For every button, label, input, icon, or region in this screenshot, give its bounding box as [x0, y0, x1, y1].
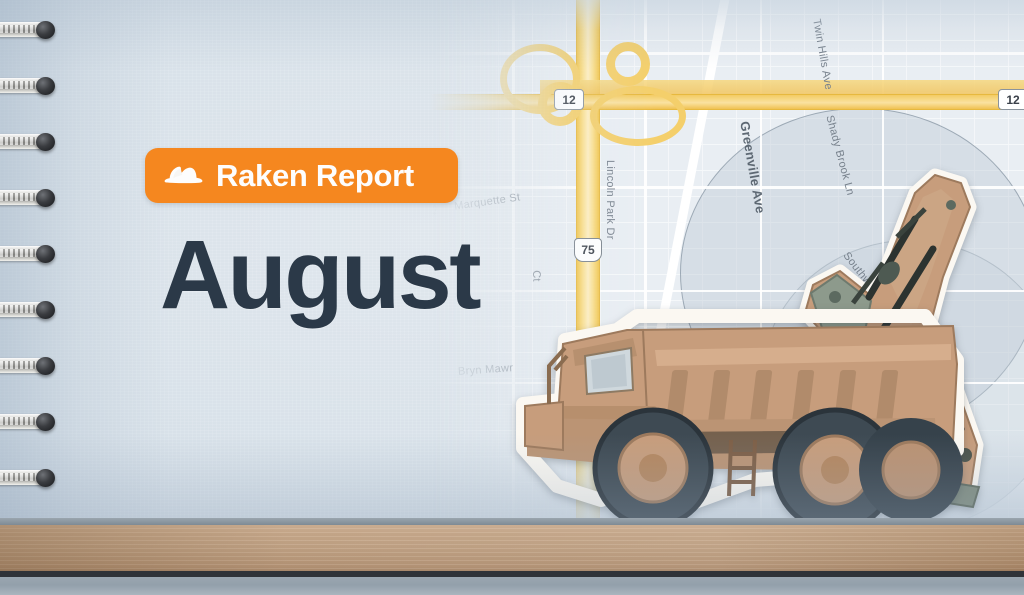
map-interchange-ramp: [590, 86, 686, 146]
binding-coil: [0, 302, 62, 317]
binding-coil: [0, 246, 62, 261]
desk-wood-edge: [0, 525, 1024, 573]
coil-tip: [36, 469, 55, 487]
coil-tip: [36, 77, 55, 95]
wood-shading: [0, 525, 1024, 573]
coil-tip: [36, 133, 55, 151]
page-title-month: August: [160, 226, 479, 323]
map-label-ct: Ct: [530, 270, 542, 282]
coil-tip: [36, 357, 55, 375]
map-label-lincoln-park-dr: Lincoln Park Dr: [604, 160, 616, 240]
coil-tip: [36, 245, 55, 263]
binding-coil: [0, 358, 62, 373]
desk-top-edge: [0, 518, 1024, 525]
badge-label: Raken Report: [216, 160, 414, 191]
map-shield-12-east: 12: [998, 89, 1024, 110]
raken-report-badge[interactable]: Raken Report: [145, 148, 458, 203]
coil-tip: [36, 413, 55, 431]
binding-coil: [0, 134, 62, 149]
raken-report-poster: 12 12 75 Marquette St Lincoln Park Dr Gr…: [0, 0, 1024, 595]
coil-tip: [36, 21, 55, 39]
coil-tip: [36, 189, 55, 207]
binding-coil: [0, 470, 62, 485]
map-shield-75: 75: [574, 238, 602, 262]
binding-coil: [0, 78, 62, 93]
notebook-page: 12 12 75 Marquette St Lincoln Park Dr Gr…: [0, 0, 1024, 524]
desk-floor: [0, 577, 1024, 595]
hard-hat-icon: [164, 162, 204, 189]
page-shadow-bottom: [0, 434, 1024, 524]
coil-tip: [36, 301, 55, 319]
map-shield-12-west: 12: [554, 89, 584, 110]
binding-coil: [0, 190, 62, 205]
binding-coil: [0, 414, 62, 429]
binding-coil: [0, 22, 62, 37]
